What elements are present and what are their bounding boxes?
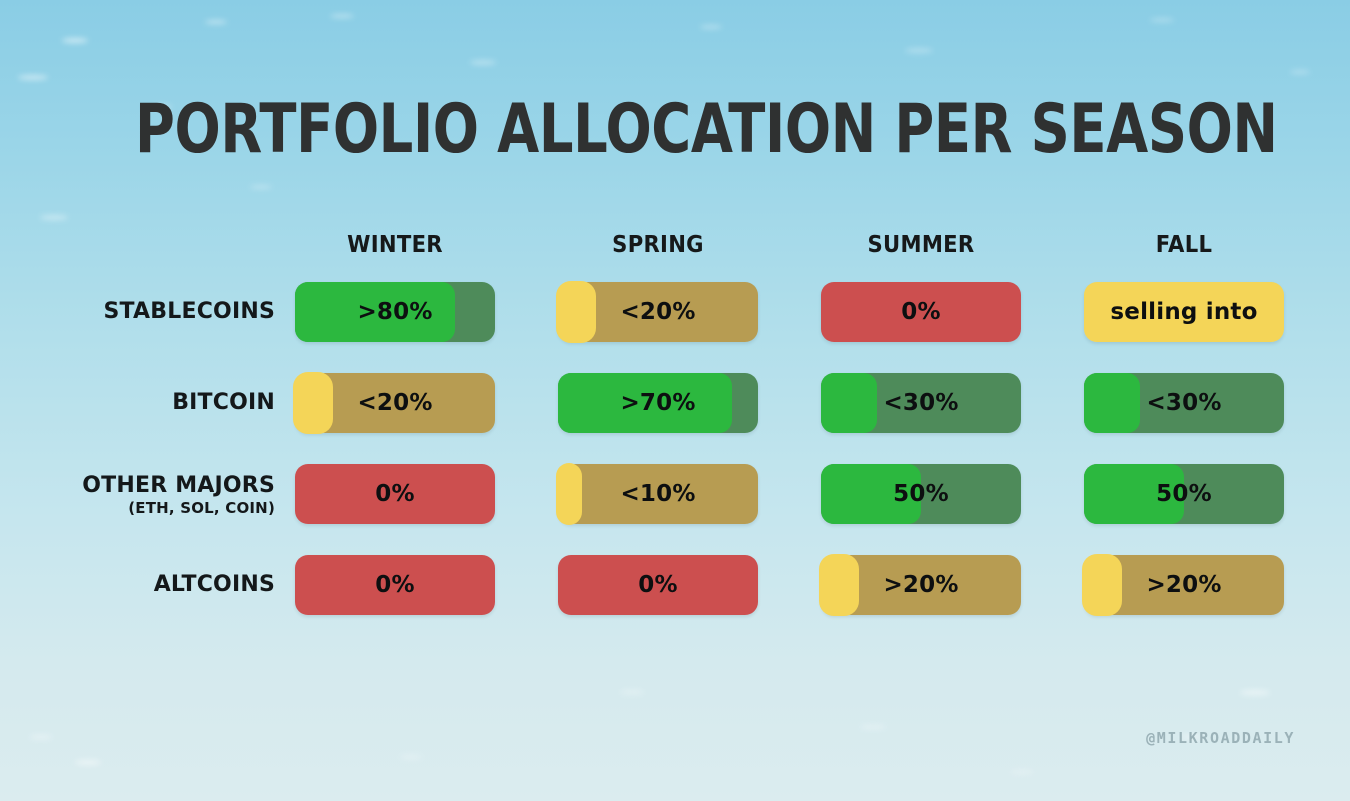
pill-value: 50% (1084, 464, 1284, 524)
allocation-row: BITCOIN<20%>70%<30%<30% (0, 373, 1350, 464)
row-label-altcoins: ALTCOINS (0, 573, 275, 597)
allocation-pill[interactable]: <20% (558, 282, 758, 342)
pill-value: <10% (558, 464, 758, 524)
allocation-pill[interactable]: >70% (558, 373, 758, 433)
cloud-wisp (700, 25, 722, 29)
page-title: PORTFOLIO ALLOCATION PER SEASON (135, 96, 1215, 164)
allocation-grid: WINTERSPRINGSUMMERFALL STABLECOINS>80%<2… (0, 232, 1350, 646)
allocation-pill[interactable]: 0% (821, 282, 1021, 342)
pill-value: >20% (821, 555, 1021, 615)
pill-value: 0% (558, 555, 758, 615)
allocation-row: STABLECOINS>80%<20%0%selling into (0, 282, 1350, 373)
allocation-pill[interactable]: >80% (295, 282, 495, 342)
allocation-pill[interactable]: <30% (821, 373, 1021, 433)
allocation-pill[interactable]: 0% (295, 555, 495, 615)
cloud-wisp (62, 38, 88, 43)
allocation-pill[interactable]: 50% (1084, 464, 1284, 524)
cloud-wisp (1010, 770, 1034, 774)
allocation-pill[interactable]: <10% (558, 464, 758, 524)
pill-value: <30% (1084, 373, 1284, 433)
allocation-pill[interactable]: selling into (1084, 282, 1284, 342)
row-label-text: OTHER MAJORS (82, 473, 275, 498)
infographic-canvas: PORTFOLIO ALLOCATION PER SEASON WINTERSP… (0, 0, 1350, 801)
row-host: STABLECOINS>80%<20%0%selling intoBITCOIN… (0, 282, 1350, 646)
row-label-other-majors: OTHER MAJORS(ETH, SOL, COIN) (0, 474, 275, 516)
row-label-text: STABLECOINS (104, 299, 275, 324)
cloud-wisp (400, 755, 422, 759)
cloud-wisp (330, 14, 354, 18)
allocation-pill[interactable]: <30% (1084, 373, 1284, 433)
allocation-pill[interactable]: 0% (558, 555, 758, 615)
allocation-pill[interactable]: 50% (821, 464, 1021, 524)
cloud-wisp (620, 690, 644, 694)
pill-value: 0% (295, 555, 495, 615)
cloud-wisp (1290, 70, 1310, 74)
row-label-subtext: (ETH, SOL, COIN) (0, 500, 275, 516)
pill-value: <20% (558, 282, 758, 342)
column-header-fall: FALL (1092, 232, 1276, 258)
allocation-pill[interactable]: 0% (295, 464, 495, 524)
cloud-wisp (250, 185, 272, 189)
pill-value: <20% (295, 373, 495, 433)
allocation-pill[interactable]: >20% (1084, 555, 1284, 615)
cloud-wisp (470, 60, 496, 65)
pill-value: 0% (821, 282, 1021, 342)
pill-value: selling into (1084, 282, 1284, 342)
cloud-wisp (75, 760, 101, 765)
allocation-pill[interactable]: <20% (295, 373, 495, 433)
cloud-wisp (1150, 18, 1174, 22)
row-label-bitcoin: BITCOIN (0, 391, 275, 415)
row-label-text: ALTCOINS (154, 572, 275, 597)
cloud-wisp (30, 735, 52, 739)
column-header-summer: SUMMER (829, 232, 1013, 258)
pill-value: <30% (821, 373, 1021, 433)
cloud-wisp (1240, 690, 1270, 695)
allocation-row: ALTCOINS0%0%>20%>20% (0, 555, 1350, 646)
pill-value: >20% (1084, 555, 1284, 615)
cloud-wisp (905, 48, 933, 53)
cloud-wisp (205, 20, 227, 24)
cloud-wisp (40, 215, 68, 220)
column-header-row: WINTERSPRINGSUMMERFALL (0, 232, 1350, 282)
cloud-wisp (18, 75, 48, 80)
pill-value: >70% (558, 373, 758, 433)
watermark: @MILKROADDAILY (1146, 729, 1295, 747)
allocation-pill[interactable]: >20% (821, 555, 1021, 615)
row-label-stablecoins: STABLECOINS (0, 300, 275, 324)
pill-value: 50% (821, 464, 1021, 524)
pill-value: 0% (295, 464, 495, 524)
column-header-winter: WINTER (303, 232, 487, 258)
row-label-text: BITCOIN (172, 390, 275, 415)
allocation-row: OTHER MAJORS(ETH, SOL, COIN)0%<10%50%50% (0, 464, 1350, 555)
column-header-spring: SPRING (566, 232, 750, 258)
pill-value: >80% (295, 282, 495, 342)
cloud-wisp (860, 725, 886, 729)
